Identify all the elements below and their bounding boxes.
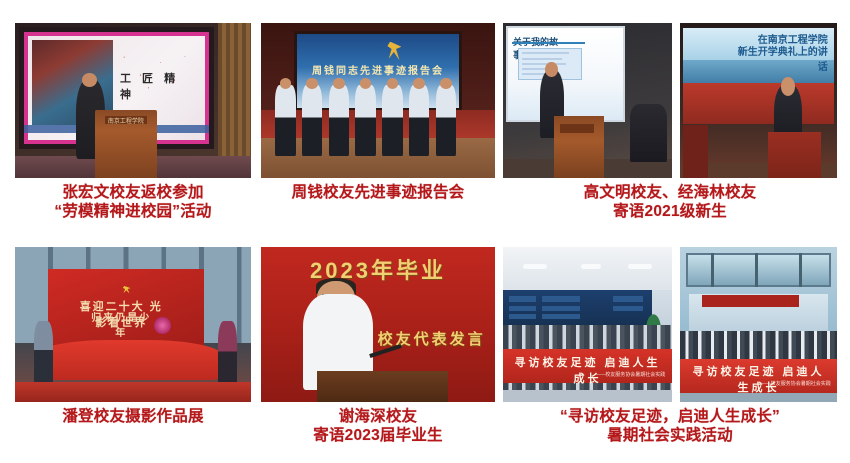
gallery-cell-1[interactable]: 工 匠 精 神 南京工程学院 张宏文校友返校参加 “劳模精神进校园”活动: [15, 23, 251, 178]
gallery-cell-6[interactable]: 2023年毕业 校友代表发言 谢海深校友 寄语2023届毕业生: [261, 247, 495, 402]
photo-6-backdrop-line-1: 2023年毕业: [280, 253, 477, 285]
photo-5-board-line-2: 归来仍是少年: [85, 309, 157, 339]
gallery-cell-3[interactable]: 关于我的故事: [503, 23, 672, 178]
photo-zhou-qian[interactable]: 周钱同志先进事迹报告会: [261, 23, 495, 178]
caption-zhang-hongwen: 张宏文校友返校参加 “劳模精神进校园”活动: [15, 183, 251, 221]
photo-7-banner-subtext: ——校友服务协会暑期社会实践: [571, 371, 666, 378]
gallery-row-1: 工 匠 精 神 南京工程学院 张宏文校友返校参加 “劳模精神进校园”活动: [0, 23, 850, 233]
photo-8-banner-subtext: ——校友服务协会暑期社会实践: [743, 380, 831, 387]
photo-gao-wenming[interactable]: 关于我的故事: [503, 23, 672, 178]
gallery-cell-5[interactable]: 喜迎二十大 光影看世界 归来仍是少年 潘登校友摄影作品展: [15, 247, 251, 402]
photo-8-banner-text: 寻访校友足迹 启迪人生成长: [686, 363, 830, 395]
gallery-cell-4[interactable]: 在南京工程学院 新生开学典礼上的讲话 高文明校友、经海林校友 寄语2021级新生: [680, 23, 837, 178]
gallery-row-2: 喜迎二十大 光影看世界 归来仍是少年 潘登校友摄影作品展 2023年毕业: [0, 247, 850, 457]
photo-summer-practice-2[interactable]: 寻访校友足迹 启迪人生成长 ——校友服务协会暑期社会实践: [680, 247, 837, 402]
caption-xie-haishen: 谢海深校友 寄语2023届毕业生: [261, 407, 495, 445]
gallery-cell-8[interactable]: 寻访校友足迹 启迪人生成长 ——校友服务协会暑期社会实践 “寻访校友足迹，启迪人…: [680, 247, 837, 402]
photo-4-screen-line-2: 新生开学典礼上的讲话: [734, 43, 827, 73]
gallery-cell-2[interactable]: 周钱同志先进事迹报告会 周钱校友先进事迹报告会: [261, 23, 495, 178]
photo-summer-practice-1[interactable]: 寻访校友足迹 启迪人生成长 ——校友服务协会暑期社会实践: [503, 247, 672, 402]
photo-7-banner-text: 寻访校友足迹 启迪人生成长: [510, 354, 665, 386]
photo-3-slide-title: 关于我的故事: [513, 35, 559, 41]
photo-jing-hailin[interactable]: 在南京工程学院 新生开学典礼上的讲话: [680, 23, 837, 178]
photo-zhang-hongwen[interactable]: 工 匠 精 神 南京工程学院: [15, 23, 251, 178]
photo-xie-haishen[interactable]: 2023年毕业 校友代表发言: [261, 247, 495, 402]
photo-pan-deng[interactable]: 喜迎二十大 光影看世界 归来仍是少年: [15, 247, 251, 402]
photo-6-backdrop-line-2: 校友代表发言: [364, 328, 486, 349]
caption-summer-practice: “寻访校友足迹，启迪人生成长” 暑期社会实践活动: [503, 407, 837, 445]
caption-zhou-qian: 周钱校友先进事迹报告会: [261, 183, 495, 202]
caption-gao-jing: 高文明校友、经海林校友 寄语2021级新生: [503, 183, 837, 221]
photo-1-screen-title: 工 匠 精 神: [120, 70, 197, 102]
gallery-cell-7[interactable]: 寻访校友足迹 启迪人生成长 ——校友服务协会暑期社会实践: [503, 247, 672, 402]
photo-2-screen-title: 周钱同志先进事迹报告会: [303, 62, 453, 77]
caption-pan-deng: 潘登校友摄影作品展: [15, 407, 251, 426]
photo-1-podium-plate: 南京工程学院: [105, 116, 147, 124]
photo-gallery: 工 匠 精 神 南京工程学院 张宏文校友返校参加 “劳模精神进校园”活动: [0, 0, 850, 463]
